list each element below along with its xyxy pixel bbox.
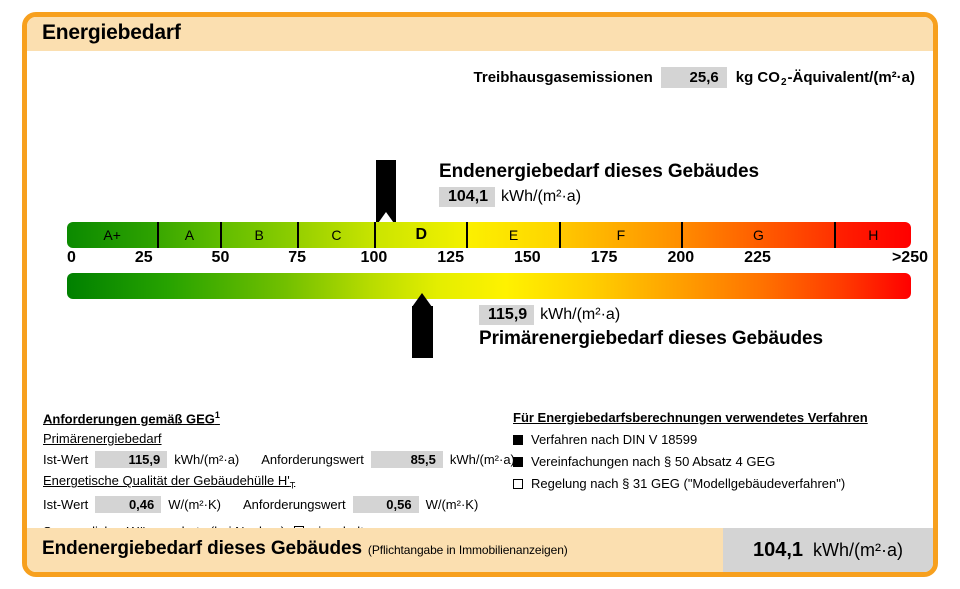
scale-tick-75: 75 xyxy=(288,249,306,267)
end-energy-unit: kWh/(m²·a) xyxy=(501,188,581,205)
primary-energy-marker-arrow-icon xyxy=(412,293,433,358)
scale-segment-h: H xyxy=(836,222,911,248)
scale-segment-label: A xyxy=(185,228,194,242)
primary-energy-unit: kWh/(m²·a) xyxy=(540,306,620,323)
calculation-methods-list: Verfahren nach DIN V 18599Vereinfachunge… xyxy=(513,432,933,491)
footer-value: 104,1 xyxy=(753,539,803,562)
primary-energy-subheading: Primärenergiebedarf xyxy=(43,431,513,446)
envelope-required-unit: W/(m²·K) xyxy=(426,497,479,512)
method-label: Regelung nach § 31 GEG ("Modellgebäudeve… xyxy=(531,476,845,491)
footer-note: (Pflichtangabe in Immobilienanzeigen) xyxy=(368,543,568,557)
primary-actual-value: 115,9 xyxy=(95,451,167,468)
end-energy-marker-arrow-icon xyxy=(376,160,396,228)
scale-segment-b: B xyxy=(222,222,299,248)
requirements-heading-text: Anforderungen gemäß GEG xyxy=(43,411,215,426)
scale-segment-d: D xyxy=(376,222,468,248)
scale-tick-175: 175 xyxy=(591,249,618,267)
scale-segment-f: F xyxy=(561,222,683,248)
calculation-methods-heading: Für Energiebedarfsberechnungen verwendet… xyxy=(513,410,933,425)
ghg-unit-subscript: 2 xyxy=(780,77,788,88)
arrow-tip xyxy=(412,293,432,307)
primary-actual-unit: kWh/(m²·a) xyxy=(174,452,239,467)
primary-energy-values-row: Ist-Wert 115,9 kWh/(m²·a) Anforderungswe… xyxy=(43,451,513,468)
scale-tick-225: 225 xyxy=(744,249,771,267)
scale-segment-a: A xyxy=(159,222,221,248)
primary-required-value: 85,5 xyxy=(371,451,443,468)
footer-band: Endenergiebedarf dieses Gebäudes(Pflicht… xyxy=(27,528,933,572)
scale-tick-25: 25 xyxy=(135,249,153,267)
scale-segment-label: E xyxy=(509,228,518,242)
end-energy-value-line: 104,1kWh/(m²·a) xyxy=(439,187,759,207)
scale-tick-125: 125 xyxy=(437,249,464,267)
page-title: Energiebedarf xyxy=(42,21,181,45)
end-energy-callout: Endenergiebedarf dieses Gebäudes 104,1kW… xyxy=(439,161,759,207)
scale-segment-c: C xyxy=(299,222,376,248)
footer-title-text: Endenergiebedarf dieses Gebäudes xyxy=(42,538,362,559)
ghg-unit-prefix: kg CO xyxy=(736,69,780,86)
header-band: Energiebedarf xyxy=(27,17,933,51)
envelope-required-value: 0,56 xyxy=(353,496,419,513)
envelope-actual-unit: W/(m²·K) xyxy=(168,497,221,512)
method-row[interactable]: Vereinfachungen nach § 50 Absatz 4 GEG xyxy=(513,454,933,469)
arrow-stem xyxy=(376,160,396,212)
primary-actual-label: Ist-Wert xyxy=(43,452,88,467)
scale-tick-50: 50 xyxy=(212,249,230,267)
method-checkbox[interactable] xyxy=(513,435,523,445)
greenhouse-gas-label: Treibhausgasemissionen xyxy=(474,69,653,86)
scale-tick-gt250: >250 xyxy=(892,249,928,267)
envelope-values-row: Ist-Wert 0,46 W/(m²·K) Anforderungswert … xyxy=(43,496,513,513)
calculation-methods-section: Für Energiebedarfsberechnungen verwendet… xyxy=(513,410,933,491)
footer-value-box: 104,1 kWh/(m²·a) xyxy=(723,528,933,572)
scale-segment-e: E xyxy=(468,222,560,248)
requirements-section: Anforderungen gemäß GEG1 Primärenergiebe… xyxy=(43,410,513,539)
envelope-required-label: Anforderungswert xyxy=(243,497,346,512)
method-checkbox[interactable] xyxy=(513,457,523,467)
ghg-unit-suffix: -Äquivalent/(m²·a) xyxy=(788,69,916,86)
primary-energy-value-line: 115,9kWh/(m²·a) xyxy=(479,305,823,325)
scale-tick-200: 200 xyxy=(667,249,694,267)
method-label: Verfahren nach DIN V 18599 xyxy=(531,432,697,447)
primary-required-unit: kWh/(m²·a) xyxy=(450,452,515,467)
envelope-subheading-subscript: T xyxy=(290,481,296,491)
method-row[interactable]: Regelung nach § 31 GEG ("Modellgebäudeve… xyxy=(513,476,933,491)
requirements-heading-footnote: 1 xyxy=(215,410,220,420)
envelope-subheading-text: Energetische Qualität der Gebäudehülle H… xyxy=(43,473,290,488)
energy-class-scale-bar: A+ABCDEFGH xyxy=(67,222,911,248)
scale-segment-label: D xyxy=(415,227,427,243)
scale-segment-label: G xyxy=(753,228,764,242)
scale-tick-150: 150 xyxy=(514,249,541,267)
envelope-actual-value: 0,46 xyxy=(95,496,161,513)
scale-tick-row: 0255075100125150175200225>250 xyxy=(67,249,911,271)
end-energy-value: 104,1 xyxy=(439,187,495,207)
scale-segment-label: C xyxy=(331,228,341,242)
scale-segment-label: B xyxy=(255,228,264,242)
energy-certificate-panel: Energiebedarf Treibhausgasemissionen25,6… xyxy=(22,12,938,577)
scale-segment-aplus: A+ xyxy=(67,222,159,248)
method-checkbox[interactable] xyxy=(513,479,523,489)
scale-tick-0: 0 xyxy=(67,249,76,267)
envelope-actual-label: Ist-Wert xyxy=(43,497,88,512)
greenhouse-gas-value: 25,6 xyxy=(661,67,727,88)
primary-energy-value: 115,9 xyxy=(479,305,534,325)
requirements-heading: Anforderungen gemäß GEG1 xyxy=(43,410,513,426)
greenhouse-gas-unit: kg CO2-Äquivalent/(m²·a) xyxy=(736,69,915,86)
primary-required-label: Anforderungswert xyxy=(261,452,364,467)
scale-segment-label: H xyxy=(868,228,878,242)
method-row[interactable]: Verfahren nach DIN V 18599 xyxy=(513,432,933,447)
scale-segment-label: A+ xyxy=(103,228,121,242)
end-energy-title: Endenergiebedarf dieses Gebäudes xyxy=(439,161,759,183)
energy-gradient-bar xyxy=(67,273,911,299)
scale-tick-100: 100 xyxy=(361,249,388,267)
arrow-stem xyxy=(412,306,433,358)
greenhouse-gas-row: Treibhausgasemissionen25,6kg CO2-Äquival… xyxy=(27,67,933,88)
footer-unit: kWh/(m²·a) xyxy=(813,540,903,561)
scale-segment-label: F xyxy=(617,228,626,242)
primary-energy-title: Primärenergiebedarf dieses Gebäudes xyxy=(479,328,823,350)
footer-title: Endenergiebedarf dieses Gebäudes(Pflicht… xyxy=(42,538,568,560)
primary-energy-callout: 115,9kWh/(m²·a) Primärenergiebedarf dies… xyxy=(479,305,823,350)
method-label: Vereinfachungen nach § 50 Absatz 4 GEG xyxy=(531,454,775,469)
scale-segment-g: G xyxy=(683,222,836,248)
envelope-subheading: Energetische Qualität der Gebäudehülle H… xyxy=(43,473,513,491)
